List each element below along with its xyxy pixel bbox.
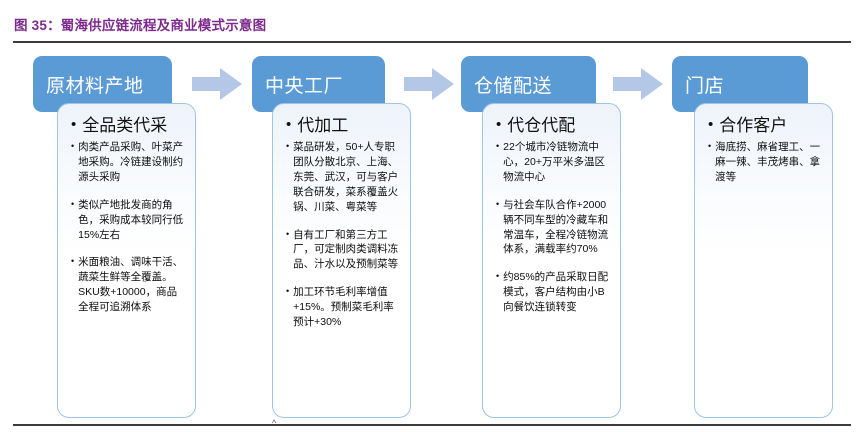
list-item: • 22个城市冷链物流中心，20+万平米多温区物流中心 [496, 140, 611, 185]
stage-lead-label-3: 代仓代配 [507, 116, 575, 136]
stage-header-label-2: 中央工厂 [265, 71, 343, 98]
list-item-text: 米面粮油、调味干活、蔬菜生鲜等全覆盖。SKU数+10000，商品全程可追溯体系 [78, 255, 186, 315]
list-item: • 肉类产品采购、叶菜产地采购。冷链建设制约源头采购 [71, 140, 186, 185]
figure-footnote: ^ [272, 419, 276, 428]
lead-bullet-icon: • [496, 116, 501, 133]
bullet-icon: • [71, 255, 74, 269]
stage-header-label-4: 门店 [685, 71, 724, 98]
stage-lead-2: • 代加工 [286, 116, 401, 136]
arrow-right-icon-1 [192, 68, 242, 100]
stage-lead-1: • 全品类代采 [71, 116, 186, 136]
bullet-icon: • [496, 270, 499, 284]
list-item-text: 自有工厂和第三方工厂，可定制肉类调料冻品、汁水以及预制菜等 [293, 228, 401, 273]
list-item-text: 肉类产品采购、叶菜产地采购。冷链建设制约源头采购 [78, 140, 186, 185]
arrow-right-icon-3 [613, 68, 663, 100]
list-item-text: 与社会车队合作+2000辆不同车型的冷藏车和常温车，全程冷链物流体系，满载率约7… [503, 198, 611, 258]
list-item-text: 海底捞、麻省理工、一麻一辣、丰茂烤串、拿渡等 [715, 140, 823, 185]
stage-card-2: • 代加工 • 菜品研发，50+人专职团队分散北京、上海、东莞、武汉，可与客户联… [272, 103, 411, 418]
stage-card-1: • 全品类代采 • 肉类产品采购、叶菜产地采购。冷链建设制约源头采购 • 类似产… [57, 103, 196, 418]
supply-chain-flow-diagram: 原材料产地 • 全品类代采 • 肉类产品采购、叶菜产地采购。冷链建设制约源头采购… [0, 0, 864, 432]
stage-card-4: • 合作客户 • 海底捞、麻省理工、一麻一辣、丰茂烤串、拿渡等 [694, 103, 833, 418]
list-item: • 类似产地批发商的角色，采购成本较同行低15%左右 [71, 198, 186, 243]
stage-card-3: • 代仓代配 • 22个城市冷链物流中心，20+万平米多温区物流中心 • 与社会… [482, 103, 621, 418]
list-item: • 加工环节毛利率增值+15%。预制菜毛利率预计+30% [286, 285, 401, 330]
list-item: • 约85%的产品采取日配模式，客户结构由小B向餐饮连锁转变 [496, 270, 611, 315]
list-item: • 海底捞、麻省理工、一麻一辣、丰茂烤串、拿渡等 [708, 140, 823, 185]
stage-header-label-1: 原材料产地 [46, 71, 144, 98]
list-item-text: 菜品研发，50+人专职团队分散北京、上海、东莞、武汉，可与客户联合研发，菜系覆盖… [293, 140, 401, 215]
list-item: • 菜品研发，50+人专职团队分散北京、上海、东莞、武汉，可与客户联合研发，菜系… [286, 140, 401, 215]
list-item: • 米面粮油、调味干活、蔬菜生鲜等全覆盖。SKU数+10000，商品全程可追溯体… [71, 255, 186, 315]
list-item-text: 加工环节毛利率增值+15%。预制菜毛利率预计+30% [293, 285, 401, 330]
list-item: • 与社会车队合作+2000辆不同车型的冷藏车和常温车，全程冷链物流体系，满载率… [496, 198, 611, 258]
stage-lead-label-1: 全品类代采 [82, 116, 167, 136]
list-item-text: 约85%的产品采取日配模式，客户结构由小B向餐饮连锁转变 [503, 270, 611, 315]
bullet-icon: • [496, 140, 499, 154]
stage-header-label-3: 仓储配送 [474, 71, 552, 98]
lead-bullet-icon: • [286, 116, 291, 133]
bullet-icon: • [71, 198, 74, 212]
arrow-right-icon-2 [404, 68, 454, 100]
bottom-divider [13, 424, 851, 426]
stage-lead-3: • 代仓代配 [496, 116, 611, 136]
stage-lead-4: • 合作客户 [708, 116, 823, 136]
bullet-icon: • [71, 140, 74, 154]
stage-lead-label-4: 合作客户 [719, 116, 787, 136]
bullet-icon: • [496, 198, 499, 212]
list-item-text: 22个城市冷链物流中心，20+万平米多温区物流中心 [503, 140, 611, 185]
lead-bullet-icon: • [71, 116, 76, 133]
bullet-icon: • [286, 140, 289, 154]
list-item: • 自有工厂和第三方工厂，可定制肉类调料冻品、汁水以及预制菜等 [286, 228, 401, 273]
list-item-text: 类似产地批发商的角色，采购成本较同行低15%左右 [78, 198, 186, 243]
bullet-icon: • [286, 285, 289, 299]
bullet-icon: • [708, 140, 711, 154]
stage-lead-label-2: 代加工 [297, 116, 348, 136]
lead-bullet-icon: • [708, 116, 713, 133]
bullet-icon: • [286, 228, 289, 242]
